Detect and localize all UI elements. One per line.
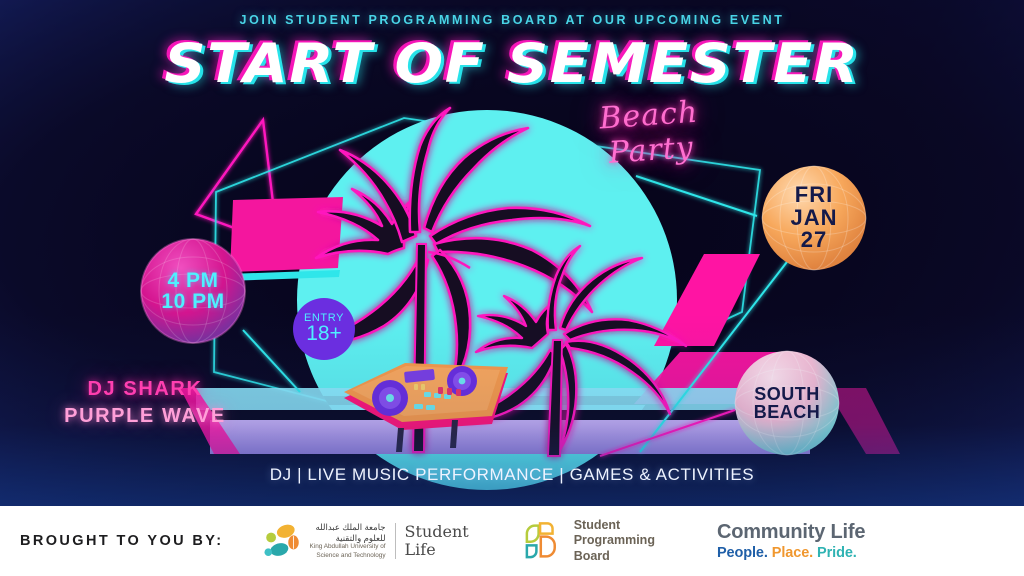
headline-block: START OF SEMESTER <box>0 36 1024 93</box>
kaust-english-1: King Abdullah University of <box>310 543 386 551</box>
event-poster: JOIN STUDENT PROGRAMMING BOARD AT OUR UP… <box>0 0 1024 576</box>
activities-list: DJ | LIVE MUSIC PERFORMANCE | GAMES & AC… <box>0 465 1024 485</box>
tagline-word-place: Place. <box>772 545 813 561</box>
sponsor-footer: BROUGHT TO YOU BY: جامعة الملك عبدالله ل… <box>0 506 1024 576</box>
badge-date-line2: JAN <box>790 207 837 229</box>
student-life-line-1: Student <box>405 523 469 541</box>
spb-line-2: Programming <box>574 533 655 549</box>
kaust-arabic-2: للعلوم والتقنية <box>310 533 386 544</box>
brought-to-you-by-label: BROUGHT TO YOU BY: <box>20 533 224 549</box>
badge-place-line2: BEACH <box>754 403 821 421</box>
page-title: START OF SEMESTER <box>164 36 859 93</box>
community-life-title: Community Life <box>717 521 865 544</box>
kaust-arabic-1: جامعة الملك عبدالله <box>310 522 386 533</box>
badge-time: 4 PM 10 PM <box>141 239 245 343</box>
entry-age-badge: ENTRY 18+ <box>293 298 355 360</box>
kaust-divider <box>395 523 396 559</box>
subtitle-script: Beach Party <box>558 92 742 174</box>
spb-mark-icon <box>521 519 565 563</box>
spb-line-1: Student <box>574 518 655 534</box>
entry-value: 18+ <box>306 322 342 346</box>
student-programming-board-logo: Student Programming Board <box>521 518 655 565</box>
badge-time-line1: 4 PM <box>161 270 224 291</box>
community-life-logo: Community Life People. Place. Pride. <box>717 521 865 561</box>
spb-wordmark: Student Programming Board <box>574 518 655 565</box>
community-life-tagline: People. Place. Pride. <box>717 545 865 561</box>
badge-place-line1: SOUTH <box>754 385 821 403</box>
spb-line-3: Board <box>574 549 655 565</box>
tagline-word-pride: Pride. <box>817 545 857 561</box>
kaust-english-2: Science and Technology <box>310 552 386 560</box>
kaust-wordmark: جامعة الملك عبدالله للعلوم والتقنية King… <box>310 522 386 560</box>
dj-name-1: DJ SHARK <box>0 378 290 401</box>
badge-place: SOUTH BEACH <box>735 351 839 455</box>
poster-artwork: JOIN STUDENT PROGRAMMING BOARD AT OUR UP… <box>0 0 1024 506</box>
kaust-mark-icon <box>262 520 304 562</box>
badge-date-line1: FRI <box>790 184 837 206</box>
student-life-wordmark: Student Life <box>405 523 469 559</box>
kaust-student-life-logo: جامعة الملك عبدالله للعلوم والتقنية King… <box>262 520 469 562</box>
badge-date: FRI JAN 27 <box>762 166 866 270</box>
dj-name-2: PURPLE WAVE <box>0 405 290 428</box>
kicker-text: JOIN STUDENT PROGRAMMING BOARD AT OUR UP… <box>0 13 1024 27</box>
badge-time-line2: 10 PM <box>161 291 224 312</box>
badge-date-line3: 27 <box>790 229 837 251</box>
dj-lineup: DJ SHARK PURPLE WAVE <box>0 378 290 428</box>
tagline-word-people: People. <box>717 545 768 561</box>
student-life-line-2: Life <box>405 541 469 559</box>
